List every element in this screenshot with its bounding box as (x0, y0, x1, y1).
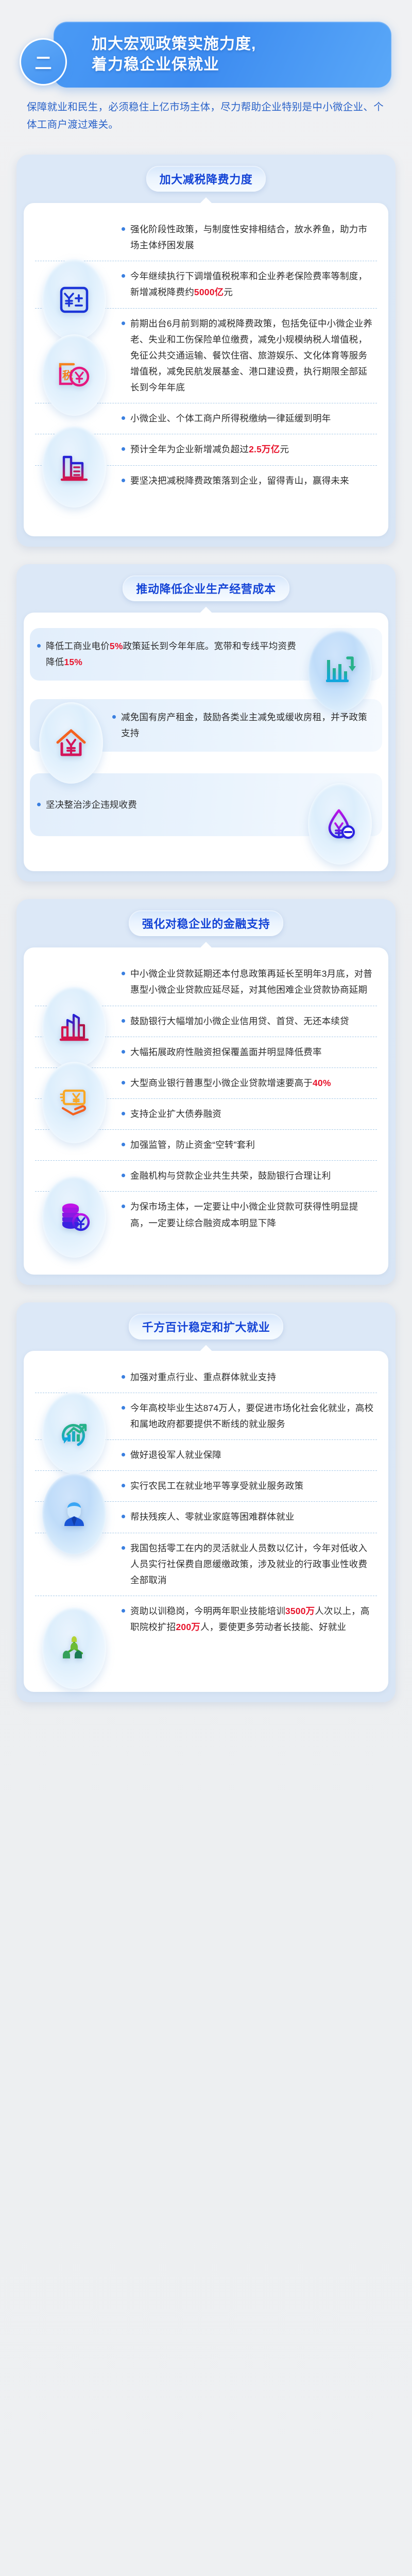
tinted-panel-3: 坚决整治涉企违规收费 (30, 773, 382, 836)
icon-gutter (35, 709, 112, 720)
yen-plus-minus-card-icon (42, 259, 106, 341)
bullet-dot (122, 1205, 125, 1208)
bullet-dot (122, 1143, 125, 1146)
list-item-text: 今年高校毕业生达874万人，要促进市场化社会化就业，高校和属地政府都要提供不断线… (130, 1400, 375, 1432)
icon-gutter (35, 1447, 122, 1458)
bullet-dot (122, 227, 125, 231)
icon-gutter (35, 1603, 122, 1614)
list-item-text: 做好退役军人就业保障 (130, 1447, 221, 1463)
bullet-dot (122, 1515, 125, 1518)
section-1-rows: 强化阶段性政策，与制度性安排相结合，放水养鱼，助力市场主体纾困发展 (35, 214, 377, 496)
bullet-dot (122, 1174, 125, 1177)
bar-chart-down-arrow-icon (308, 630, 372, 711)
list-item: 强化阶段性政策，与制度性安排相结合，放水养鱼，助力市场主体纾困发展 (35, 214, 377, 261)
bullet-dot (122, 274, 125, 278)
list-item: 资助以训稳岗，今明两年职业技能培训3500万人次以上，高职院校扩招200万人，要… (35, 1596, 377, 1642)
bullet-dot (122, 1453, 125, 1456)
section-2-body: 降低工商业电价5%政策延长到今年年底。宽带和专线平均资费降低15% (24, 613, 388, 872)
icon-gutter: 税 (35, 316, 122, 326)
section-1-body: 强化阶段性政策，与制度性安排相结合，放水养鱼，助力市场主体纾困发展 (24, 203, 388, 536)
icon-gutter (35, 1168, 122, 1178)
icon-gutter (35, 1400, 122, 1411)
list-item: 金融机构与贷款企业共生共荣，鼓励银行合理让利 (35, 1160, 377, 1191)
section-tax-reduction: 加大减税降费力度 强化阶段性政策，与制度性安排相结合，放水养鱼，助力市场主体纾困… (16, 155, 396, 547)
icon-gutter (35, 442, 122, 452)
list-item: 加强对重点行业、重点群体就业支持 (35, 1362, 377, 1393)
list-item: 大型商业银行普惠型小微企业贷款增速要高于40% (35, 1067, 377, 1098)
icon-gutter (35, 268, 122, 279)
bullet-dot (122, 1081, 125, 1084)
section-4-title-text: 千方百计稳定和扩大就业 (142, 1321, 270, 1334)
header-banner: 加大宏观政策实施力度, 着力稳企业保就业 (54, 22, 391, 88)
bullet-dot (122, 1484, 125, 1487)
bullet-dot (122, 321, 125, 325)
section-number-badge: 二 (20, 38, 67, 86)
list-item-text: 资助以训稳岗，今明两年职业技能培训3500万人次以上，高职院校扩招200万人，要… (130, 1603, 375, 1635)
list-item-text: 帮扶残疾人、零就业家庭等困难群体就业 (130, 1509, 295, 1525)
list-item: 坚决整治涉企违规收费 (35, 776, 377, 833)
list-item-text: 坚决整治涉企违规收费 (46, 797, 137, 813)
list-item-text: 要坚决把减税降费政策落到企业，留得青山，赢得未来 (130, 473, 349, 489)
list-item-text: 实行农民工在就业地平等享受就业服务政策 (130, 1478, 303, 1494)
bullet-dot (122, 1406, 125, 1410)
house-yen-icon (39, 702, 103, 784)
bullet-dot (112, 715, 116, 719)
bullet-dot (122, 447, 125, 451)
icon-gutter (35, 1199, 122, 1209)
bullet-dot (122, 1609, 125, 1613)
list-item-text: 预计全年为企业新增减负超过2.5万亿元 (130, 442, 289, 457)
list-item-text: 金融机构与贷款企业共生共荣，鼓励银行合理让利 (130, 1168, 331, 1184)
list-item: 预计全年为企业新增减负超过2.5万亿元 (35, 434, 377, 465)
infographic-page: 加大宏观政策实施力度, 着力稳企业保就业 二 保障就业和民生，必须稳住上亿市场主… (0, 0, 412, 2576)
page-intro-text: 保障就业和民生，必须稳住上亿市场主体，尽力帮助企业特别是中小微企业、个体工商户渡… (27, 99, 388, 133)
water-drop-yen-minus-icon (308, 783, 372, 865)
list-item: 今年继续执行下调增值税税率和企业养老保险费率等制度，新增减税降费约5000亿元 (35, 261, 377, 308)
section-3-rows: 中小微企业贷款延期还本付息政策再延长至明年3月底，对普惠型小微企业贷款应延尽延，… (35, 959, 377, 1238)
page-header: 加大宏观政策实施力度, 着力稳企业保就业 二 保障就业和民生，必须稳住上亿市场主… (0, 0, 412, 155)
list-item: 实行农民工在就业地平等享受就业服务政策 (35, 1470, 377, 1501)
bullet-dot (122, 479, 125, 482)
icon-gutter (305, 638, 377, 649)
city-buildings-icon (42, 987, 106, 1068)
list-item: 税 前期出台6月前到期的减税降费政策，包括免征中小微企业养老、失业和工伤保险单位… (35, 308, 377, 403)
list-item-text: 前期出台6月前到期的减税降费政策，包括免征中小微企业养老、失业和工伤保险单位缴费… (130, 316, 375, 396)
bullet-dot (122, 416, 125, 420)
list-item-text: 强化阶段性政策，与制度性安排相结合，放水养鱼，助力市场主体纾困发展 (130, 222, 375, 253)
people-network-icon (42, 1607, 106, 1689)
section-3-body: 中小微企业贷款延期还本付息政策再延长至明年3月底，对普惠型小微企业贷款应延尽延，… (24, 947, 388, 1274)
page-title-line-2: 着力稳企业保就业 (92, 55, 379, 75)
bullet-dot (122, 1375, 125, 1379)
tinted-panel-1: 降低工商业电价5%政策延长到今年年底。宽带和专线平均资费降低15% (30, 628, 382, 681)
bullet-dot (122, 972, 125, 975)
coin-stack-yen-icon (42, 1176, 106, 1258)
list-item: 中小微企业贷款延期还本付息政策再延长至明年3月底，对普惠型小微企业贷款应延尽延，… (35, 959, 377, 1005)
section-3-title-text: 强化对稳企业的金融支持 (142, 918, 270, 930)
section-1-title-banner: 加大减税降费力度 (146, 166, 266, 192)
wallet-hand-yen-icon (42, 1062, 106, 1143)
section-operating-cost: 推动降低企业生产经营成本 降低工商业电价5%政策延长到今年年底。宽带和专线平均资… (16, 564, 396, 882)
list-item: 今年高校毕业生达874万人，要促进市场化社会化就业，高校和属地政府都要提供不断线… (35, 1393, 377, 1439)
list-item-text: 中小微企业贷款延期还本付息政策再延长至明年3月底，对普惠型小微企业贷款应延尽延，… (130, 966, 375, 998)
list-item-text: 加强监管，防止资金“空转”套利 (130, 1137, 255, 1153)
icon-gutter (35, 1369, 122, 1380)
list-item-text: 大幅拓展政府性融资担保覆盖面并明显降低费率 (130, 1044, 322, 1060)
icon-gutter (35, 1137, 122, 1147)
icon-gutter (35, 411, 122, 421)
icon-gutter (35, 1540, 122, 1551)
section-financial-support: 强化对稳企业的金融支持 (16, 899, 396, 1284)
section-3-title-banner: 强化对稳企业的金融支持 (129, 910, 284, 936)
icon-gutter (35, 966, 122, 976)
list-item: 我国包括零工在内的灵活就业人员数以亿计，今年对低收入人员实行社保费自愿缓缴政策，… (35, 1533, 377, 1596)
list-item-text: 减免国有房产租金，鼓励各类业主减免或缓收房租，并予政策支持 (121, 709, 375, 741)
list-item-text: 小微企业、个体工商户所得税缴纳一律延缓到明年 (130, 411, 331, 427)
icon-gutter (35, 1509, 122, 1519)
bullet-dot (122, 1112, 125, 1115)
list-item: 降低工商业电价5%政策延长到今年年底。宽带和专线平均资费降低15% (35, 631, 377, 677)
list-item-text: 为保市场主体，一定要让中小微企业贷款可获得性明显提高，一定要让综合融资成本明显下… (130, 1199, 375, 1231)
section-4-title-banner: 千方百计稳定和扩大就业 (129, 1314, 284, 1340)
icon-gutter (35, 473, 122, 483)
list-item-text: 降低工商业电价5%政策延长到今年年底。宽带和专线平均资费降低15% (46, 638, 303, 670)
section-number-text: 二 (35, 49, 52, 74)
list-item-text: 加强对重点行业、重点群体就业支持 (130, 1369, 276, 1385)
page-title-line-1: 加大宏观政策实施力度, (92, 34, 379, 55)
buildings-bar-icon (42, 426, 106, 507)
list-item-text: 今年继续执行下调增值税税率和企业养老保险费率等制度，新增减税降费约5000亿元 (130, 268, 375, 300)
list-item-text: 支持企业扩大债券融资 (130, 1106, 221, 1122)
list-item: 减免国有房产租金，鼓励各类业主减免或缓收房租，并予政策支持 (35, 702, 377, 749)
bullet-dot (37, 803, 41, 806)
tax-yen-stamp-icon: 税 (42, 334, 106, 416)
bullet-dot (122, 1050, 125, 1054)
section-4-rows: 加强对重点行业、重点群体就业支持 (35, 1362, 377, 1643)
icon-gutter (35, 1013, 122, 1024)
list-item-text: 大型商业银行普惠型小微企业贷款增速要高于40% (130, 1075, 331, 1091)
section-2-title-text: 推动降低企业生产经营成本 (136, 583, 276, 596)
icon-gutter (305, 800, 377, 810)
icon-gutter (35, 1075, 122, 1086)
icon-gutter (35, 222, 122, 232)
section-1-title-text: 加大减税降费力度 (160, 173, 253, 186)
icon-gutter (35, 1478, 122, 1488)
list-item-text: 我国包括零工在内的灵活就业人员数以亿计，今年对低收入人员实行社保费自愿缓缴政策，… (130, 1540, 375, 1588)
section-2-title-banner: 推动降低企业生产经营成本 (123, 575, 289, 601)
section-4-body: 加强对重点行业、重点群体就业支持 (24, 1351, 388, 1692)
bullet-dot (122, 1019, 125, 1023)
bullet-dot (37, 644, 41, 648)
icon-gutter (35, 1044, 122, 1055)
section-employment: 千方百计稳定和扩大就业 加强对重点行业、重点群体就业支持 (16, 1302, 396, 1703)
bullet-dot (122, 1546, 125, 1550)
list-item-text: 鼓励银行大幅增加小微企业信用贷、首贷、无还本续贷 (130, 1013, 349, 1029)
icon-gutter (35, 1106, 122, 1116)
growth-chart-arrow-icon (42, 1392, 106, 1473)
